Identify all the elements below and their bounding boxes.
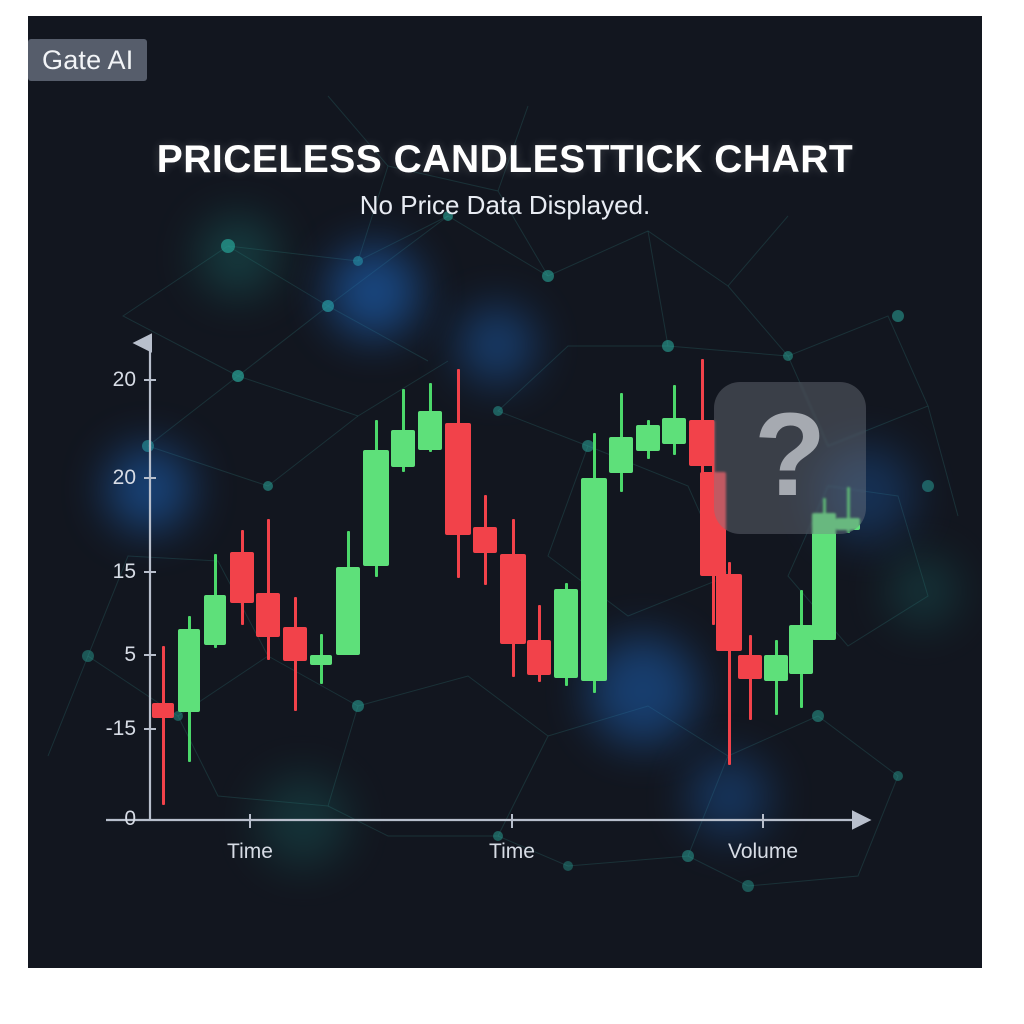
candle-body	[473, 527, 497, 553]
candle-body	[500, 554, 526, 644]
candle-body	[738, 655, 762, 679]
page-subtitle: No Price Data Displayed.	[28, 190, 982, 221]
candlestick-down	[473, 495, 497, 585]
candle-body	[445, 423, 471, 535]
candlestick-up	[581, 433, 607, 693]
candlestick-up	[554, 583, 578, 686]
page-title: PRICELESS CANDLESTTICK CHART	[28, 138, 982, 182]
candle-body	[336, 567, 360, 655]
x-axis-tick-label: Time	[227, 840, 273, 864]
candle-body	[662, 418, 686, 444]
candle-wick	[267, 519, 270, 660]
candlestick-up	[363, 420, 389, 577]
y-axis-tick-label: 15	[113, 560, 136, 584]
candlestick-up	[636, 420, 660, 459]
watermark-label: Gate AI	[42, 45, 133, 76]
candle-body	[363, 450, 389, 566]
candle-body	[256, 593, 280, 637]
y-axis-tick-label: 5	[124, 643, 136, 667]
candlestick-up	[310, 634, 332, 684]
candlestick-up	[418, 383, 442, 452]
candle-body	[230, 552, 254, 603]
candle-body	[789, 625, 813, 674]
candlestick-up	[391, 389, 415, 472]
candlestick-up	[178, 616, 200, 762]
candle-body	[689, 420, 715, 466]
chart-image-panel: PRICELESS CANDLESTTICK CHART No Price Da…	[28, 16, 982, 968]
candlestick-up	[609, 393, 633, 492]
candlestick-down	[283, 597, 307, 711]
candlestick-up	[336, 531, 360, 611]
candlestick-up	[764, 640, 788, 715]
x-axis-tick-label: Time	[489, 840, 535, 864]
chart-header: PRICELESS CANDLESTTICK CHART No Price Da…	[28, 138, 982, 221]
candlestick-up	[789, 590, 813, 708]
candlestick-down	[445, 369, 471, 578]
candle-body	[391, 430, 415, 467]
y-axis-tick-label: 0	[124, 807, 136, 831]
candle-body	[152, 703, 174, 718]
question-mark-icon: ?	[754, 396, 826, 514]
candle-body	[418, 411, 442, 450]
candle-body	[204, 595, 226, 645]
candle-body	[310, 655, 332, 665]
candle-body	[636, 425, 660, 451]
candlestick-up	[662, 385, 686, 455]
candle-body	[581, 478, 607, 681]
y-axis-tick-label: 20	[113, 466, 136, 490]
candlestick-down	[230, 530, 254, 625]
watermark-badge: Gate AI	[28, 39, 147, 81]
candle-body	[609, 437, 633, 473]
candlestick-up	[204, 554, 226, 648]
candle-body	[283, 627, 307, 661]
candlestick-down	[152, 646, 174, 805]
candlestick-down	[256, 519, 280, 660]
candlestick-down	[527, 605, 551, 682]
broken-image-placeholder: ?	[714, 382, 866, 534]
candle-body	[527, 640, 551, 675]
y-axis-tick-label: 20	[113, 368, 136, 392]
x-axis-tick-label: Volume	[728, 840, 798, 864]
candle-wick	[162, 646, 165, 805]
candle-body	[554, 589, 578, 678]
screenshot-root: PRICELESS CANDLESTTICK CHART No Price Da…	[0, 0, 1024, 1024]
candlestick-down	[500, 519, 526, 677]
candlestick-down	[738, 635, 762, 720]
candle-body	[178, 629, 200, 712]
y-axis-tick-label: -15	[106, 717, 136, 741]
candle-body	[764, 655, 788, 681]
